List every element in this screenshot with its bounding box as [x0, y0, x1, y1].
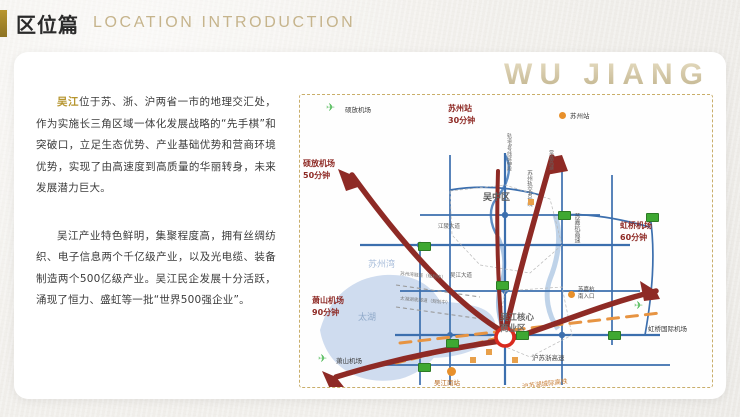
highway-shield-icon-8 — [418, 363, 431, 372]
location-map[interactable]: ✈ 硕放机场 硕放机场 50分钟 苏州站 30分钟 苏州站 虹桥机场 60分钟 … — [299, 94, 713, 388]
page-header: 区位篇 LOCATION INTRODUCTION — [0, 8, 355, 38]
page-title: 区位篇 — [16, 9, 79, 38]
highway-shield-icon-6 — [646, 213, 659, 222]
paragraph-1: 吴江位于苏、浙、沪两省一市的地理交汇处，作为实施长三角区域一体化发展战略的“先手… — [36, 92, 276, 200]
road-v6 — [645, 215, 653, 335]
highway-shield-icon-4 — [516, 331, 529, 340]
paragraph-2: 吴江产业特色鲜明，集聚程度高，拥有丝绸纺织、电子信息两个千亿级产业，以及光电缆、… — [36, 226, 276, 312]
road-diag1 — [562, 215, 650, 227]
road-diag2 — [450, 187, 540, 195]
town-block-icon-2 — [486, 349, 492, 355]
map-graphics — [300, 95, 712, 387]
station-dot-icon-suzhou — [559, 112, 566, 119]
page-subtitle: LOCATION INTRODUCTION — [93, 14, 355, 32]
description-column: 吴江位于苏、浙、沪两省一市的地理交汇处，作为实施长三角区域一体化发展战略的“先手… — [36, 92, 276, 312]
town-block-icon-4 — [470, 357, 476, 363]
river-north — [491, 155, 509, 237]
town-block-icon-3 — [512, 357, 518, 363]
paragraph-1-body: 位于苏、浙、沪两省一市的地理交汇处，作为实施长三角区域一体化发展战略的“先手棋”… — [36, 96, 276, 194]
river-east — [547, 215, 558, 329]
watermark-wujiang: WU JIANG — [504, 58, 710, 92]
highway-shield-icon-7 — [446, 339, 459, 348]
project-location-marker — [496, 328, 514, 346]
town-block-icon-1 — [528, 199, 534, 205]
header-accent-bar — [0, 10, 7, 37]
highway-shield-icon-2 — [496, 281, 509, 290]
route-to-suzhou-station-main — [506, 157, 552, 329]
highway-shield-icon-5 — [608, 331, 621, 340]
content-card: WU JIANG 吴江位于苏、浙、沪两省一市的地理交汇处，作为实施长三角区域一体… — [14, 52, 726, 399]
station-dot-icon-sujiahang — [568, 291, 575, 298]
station-dot-icon-wujiang-south — [447, 367, 456, 376]
highway-shield-icon-3 — [558, 211, 571, 220]
highway-shield-icon-1 — [418, 242, 431, 251]
keyword-wujiang: 吴江 — [57, 96, 79, 108]
